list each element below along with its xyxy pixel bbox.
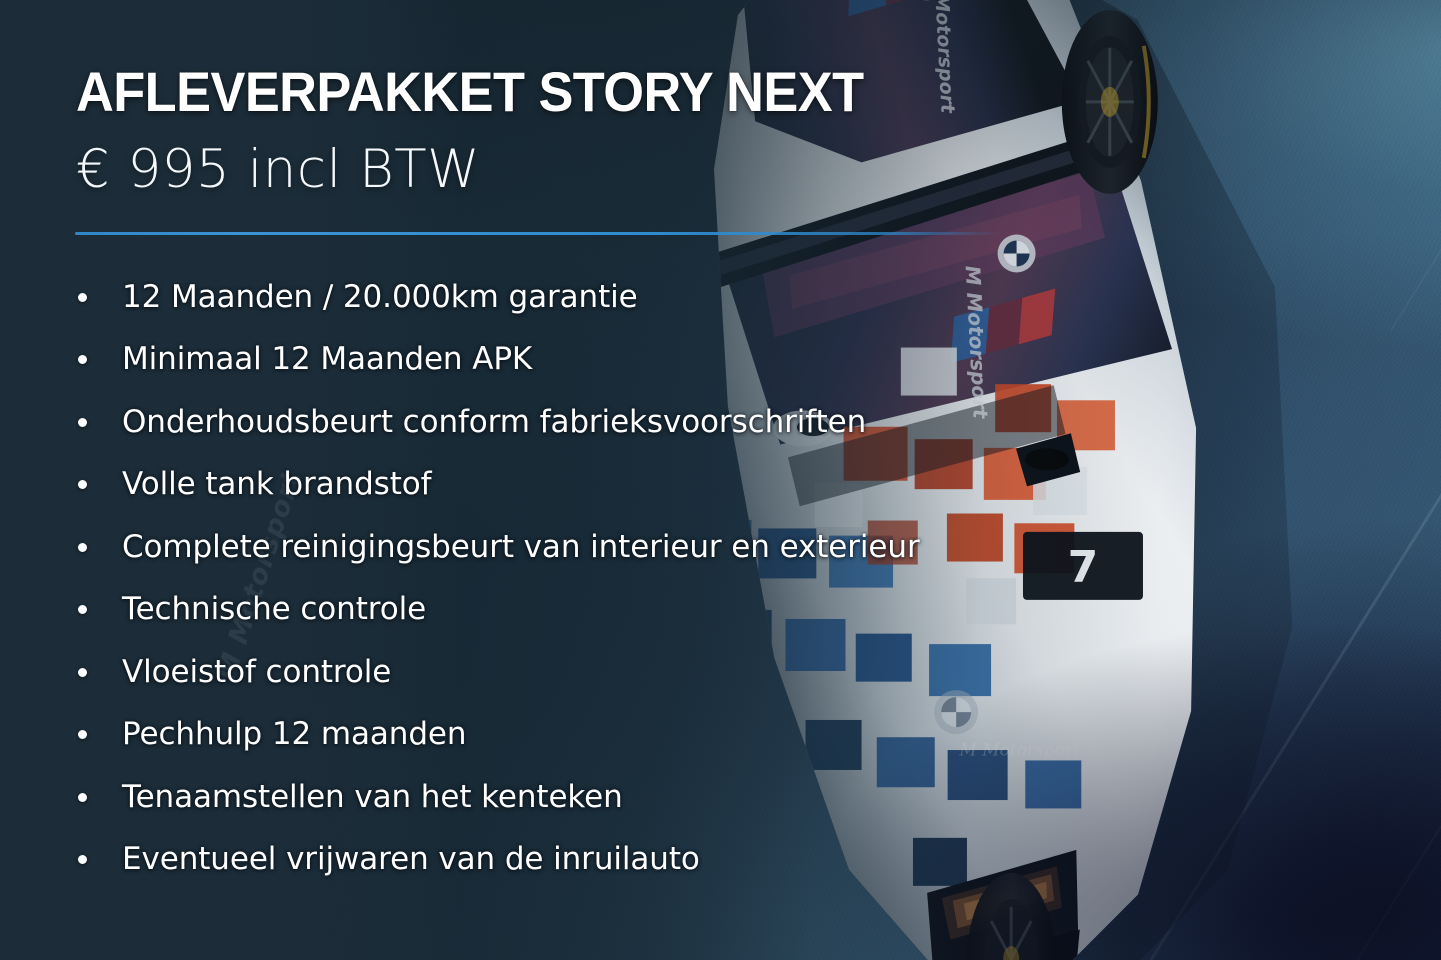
- bullet-dot-icon: [78, 730, 87, 739]
- delivery-package-banner: 7: [0, 0, 1441, 960]
- bullet-dot-icon: [78, 543, 87, 552]
- bullet-dot-icon: [78, 605, 87, 614]
- bullet-dot-icon: [78, 855, 87, 864]
- list-item: Complete reinigingsbeurt van interieur e…: [72, 516, 1192, 579]
- bullet-dot-icon: [78, 793, 87, 802]
- feature-list: 12 Maanden / 20.000km garantie Minimaal …: [72, 266, 1192, 891]
- list-item: 12 Maanden / 20.000km garantie: [72, 266, 1192, 329]
- list-item-label: Volle tank brandstof: [122, 469, 431, 500]
- banner-content: AFLEVERPAKKET STORY NEXT € 995 incl BTW …: [0, 0, 1441, 960]
- price-label: € 995 incl BTW: [76, 143, 480, 196]
- list-item-label: Vloeistof controle: [122, 657, 391, 688]
- list-item-label: Technische controle: [122, 594, 426, 625]
- list-item-label: Onderhoudsbeurt conform fabrieksvoorschr…: [122, 407, 866, 438]
- bullet-dot-icon: [78, 480, 87, 489]
- list-item: Vloeistof controle: [72, 641, 1192, 704]
- bullet-dot-icon: [78, 355, 87, 364]
- list-item-label: Eventueel vrijwaren van de inruilauto: [122, 844, 700, 875]
- list-item: Onderhoudsbeurt conform fabrieksvoorschr…: [72, 391, 1192, 454]
- list-item: Tenaamstellen van het kenteken: [72, 766, 1192, 829]
- list-item-label: Tenaamstellen van het kenteken: [122, 782, 623, 813]
- list-item: Volle tank brandstof: [72, 454, 1192, 517]
- list-item: Minimaal 12 Maanden APK: [72, 329, 1192, 392]
- list-item: Technische controle: [72, 579, 1192, 642]
- page-title: AFLEVERPAKKET STORY NEXT: [76, 64, 864, 120]
- list-item-label: Minimaal 12 Maanden APK: [122, 344, 532, 375]
- bullet-dot-icon: [78, 293, 87, 302]
- list-item: Pechhulp 12 maanden: [72, 704, 1192, 767]
- list-item: Eventueel vrijwaren van de inruilauto: [72, 829, 1192, 892]
- bullet-dot-icon: [78, 668, 87, 677]
- list-item-label: Complete reinigingsbeurt van interieur e…: [122, 532, 920, 563]
- title-divider: [75, 232, 1001, 235]
- list-item-label: 12 Maanden / 20.000km garantie: [122, 282, 638, 313]
- list-item-label: Pechhulp 12 maanden: [122, 719, 466, 750]
- bullet-dot-icon: [78, 418, 87, 427]
